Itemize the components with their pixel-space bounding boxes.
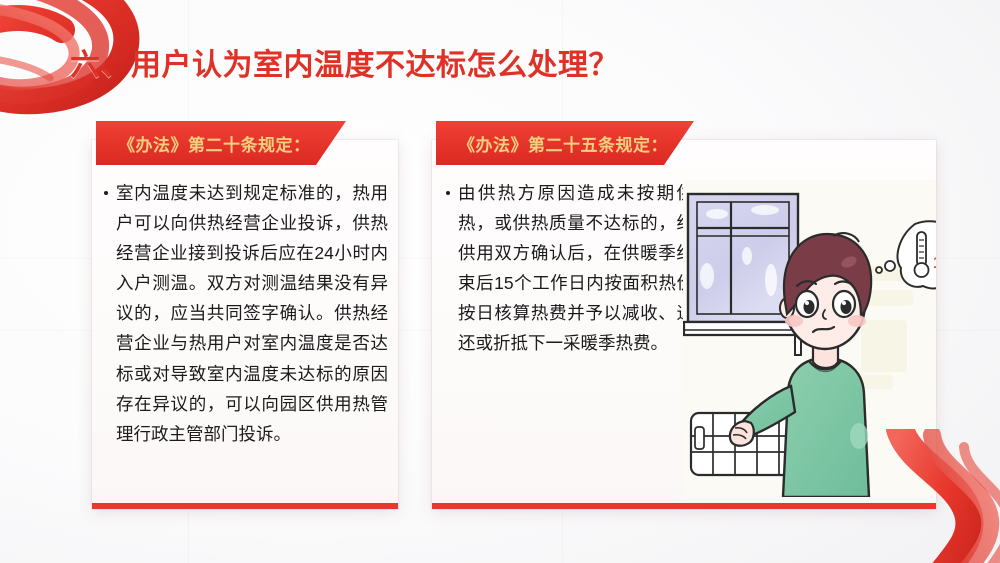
card-body-article-25: 由供热方原因造成未按期供热，或供热质量不达标的，经供用双方确认后，在供暖季结束后… <box>446 178 696 359</box>
illustration-boy-touching-radiator: 16°C <box>683 180 936 497</box>
bullet-icon <box>446 191 450 195</box>
card-accent-bar <box>432 503 936 509</box>
card-header-label: 《办法》第二十条规定： <box>96 131 311 156</box>
card-accent-bar <box>92 503 398 509</box>
card-body-article-20: 室内温度未达到规定标准的，热用户可以向供热经营企业投诉，供热经营企业接到投诉后应… <box>104 178 390 449</box>
card-header-banner-article-25: 《办法》第二十五条规定： <box>436 121 694 165</box>
card-body-text: 室内温度未达到规定标准的，热用户可以向供热经营企业投诉，供热经营企业接到投诉后应… <box>116 178 388 449</box>
card-body-text: 由供热方原因造成未按期供热，或供热质量不达标的，经供用双方确认后，在供暖季结束后… <box>458 178 694 359</box>
card-header-label: 《办法》第二十五条规定： <box>436 131 668 156</box>
page-title: 六、用户认为室内温度不达标怎么处理？ <box>70 40 619 84</box>
svg-text:16°C: 16°C <box>933 253 936 272</box>
bullet-icon <box>104 191 108 195</box>
slide-canvas: 六、用户认为室内温度不达标怎么处理？ 《办法》第二十条规定： 室内温度未达到规定… <box>0 0 1000 563</box>
card-header-banner-article-20: 《办法》第二十条规定： <box>96 121 346 165</box>
